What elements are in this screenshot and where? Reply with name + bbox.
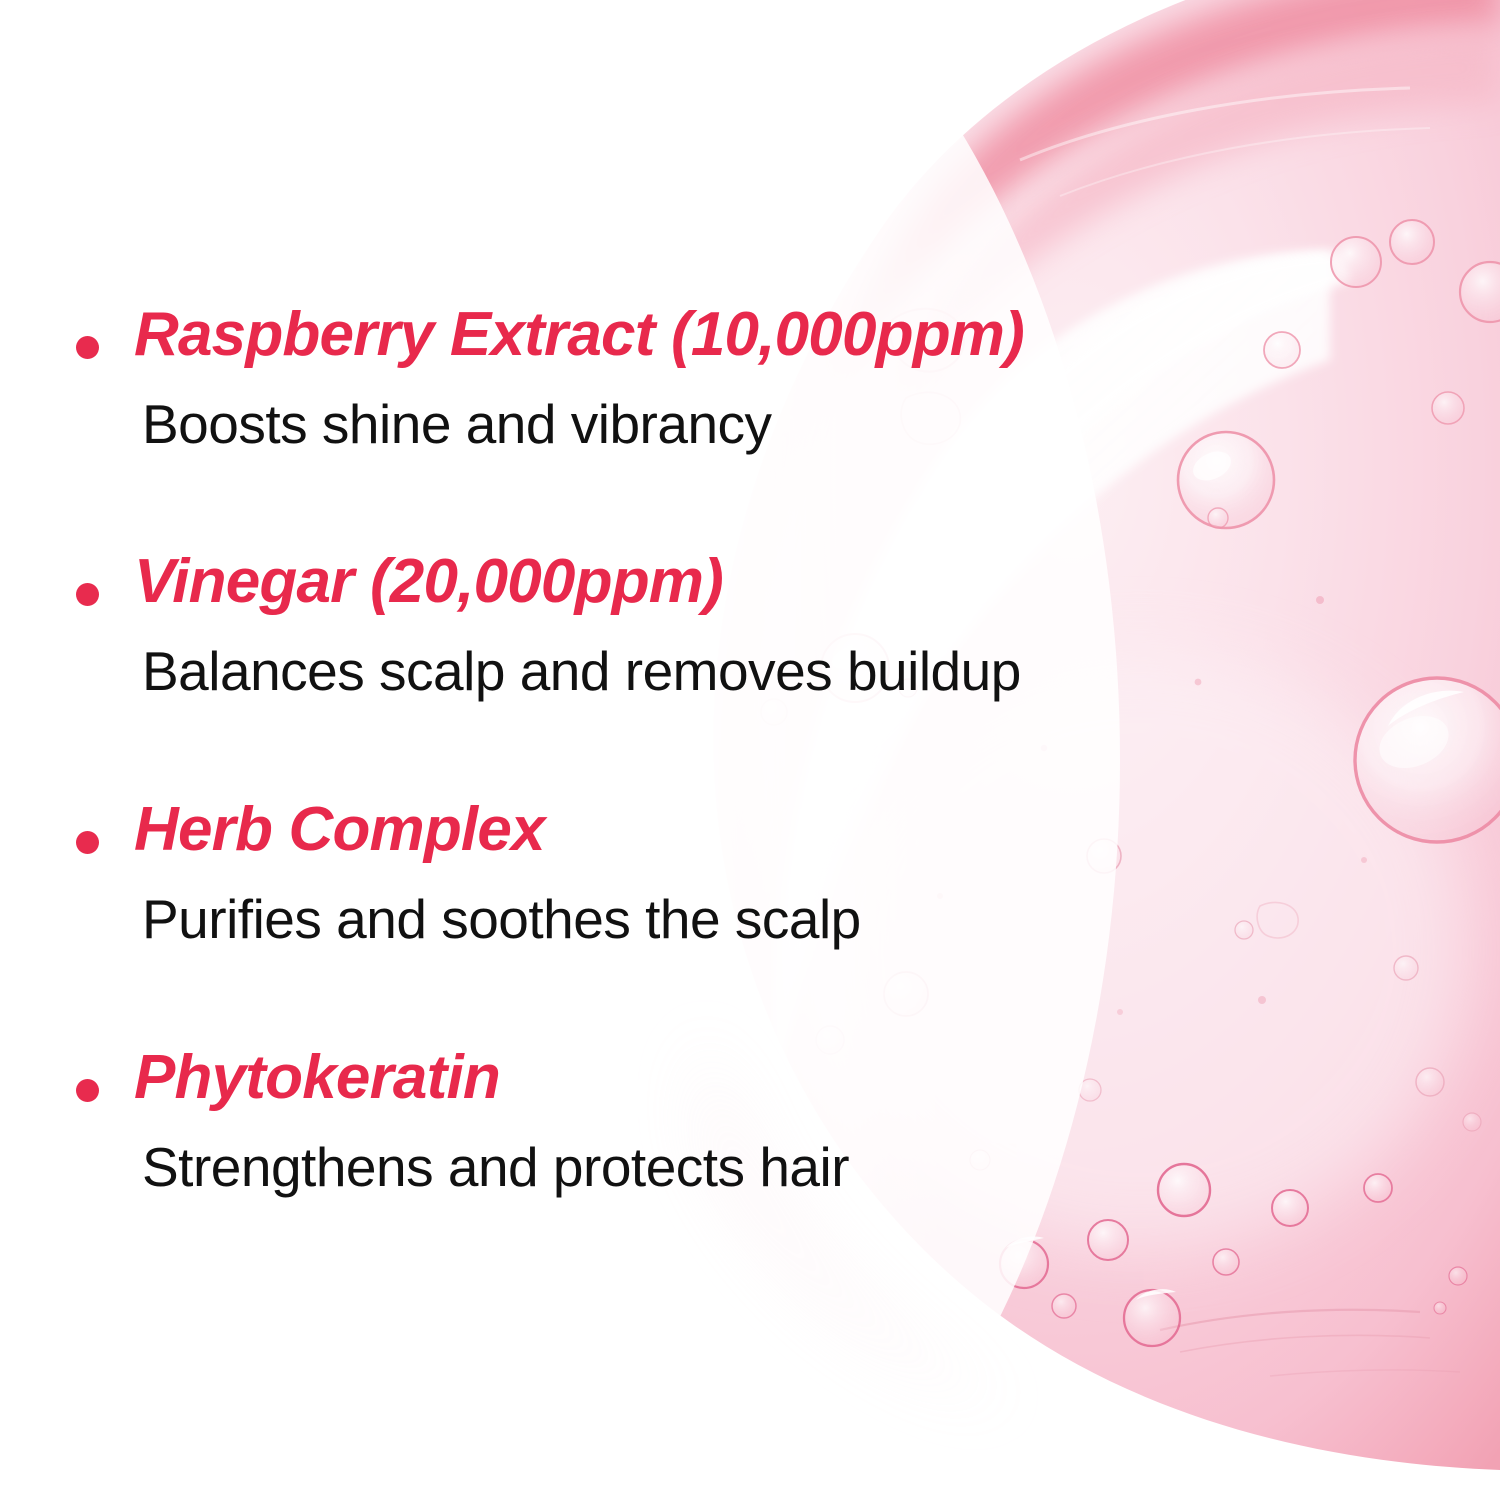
ingredient-description: Strengthens and protects hair	[142, 1139, 1380, 1197]
bullet-dot-icon	[76, 336, 99, 359]
infographic-canvas: Raspberry Extract (10,000ppm) Boosts shi…	[0, 0, 1500, 1500]
ingredient-description: Balances scalp and removes buildup	[142, 643, 1380, 701]
list-item: Vinegar (20,000ppm) Balances scalp and r…	[66, 551, 1380, 701]
list-item: Herb Complex Purifies and soothes the sc…	[66, 799, 1380, 949]
bullet-dot-icon	[76, 831, 99, 854]
bullet-dot-icon	[76, 1079, 99, 1102]
ingredient-name: Phytokeratin	[134, 1047, 1380, 1109]
ingredient-description: Boosts shine and vibrancy	[142, 396, 1380, 454]
ingredient-name: Vinegar (20,000ppm)	[134, 551, 1380, 613]
list-item: Raspberry Extract (10,000ppm) Boosts shi…	[66, 304, 1380, 454]
ingredient-name: Herb Complex	[134, 799, 1380, 861]
ingredient-list: Raspberry Extract (10,000ppm) Boosts shi…	[0, 0, 1380, 1500]
list-item: Phytokeratin Strengthens and protects ha…	[66, 1047, 1380, 1197]
bullet-dot-icon	[76, 583, 99, 606]
ingredient-description: Purifies and soothes the scalp	[142, 891, 1380, 949]
ingredient-name: Raspberry Extract (10,000ppm)	[134, 304, 1380, 366]
